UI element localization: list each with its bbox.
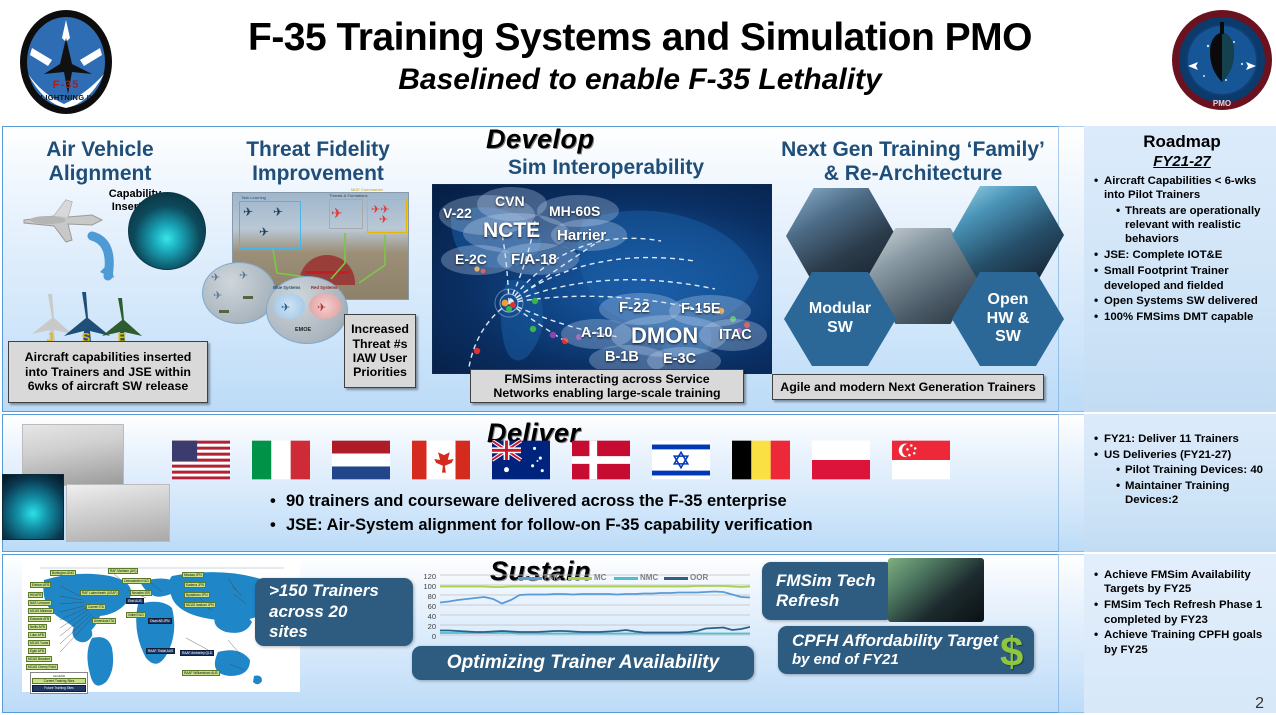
banner-fmsim-tech-refresh: FMSim Tech Refresh xyxy=(762,562,894,620)
roadmap-bullet-list: Aircraft Capabilities < 6-wks into Pilot… xyxy=(1092,174,1272,325)
trainer-availability-chart: 120 100 80 60 40 20 0 FMC MC NMC OOR xyxy=(418,574,750,642)
node-label-f15e: F-15E xyxy=(681,301,721,317)
list-item: Open Systems SW delivered xyxy=(1092,294,1272,308)
map-site-tag: Edwards AFB xyxy=(28,616,51,622)
map-site-tag: MCAS Miramar xyxy=(28,608,54,614)
list-item: • JSE: Air-System alignment for follow-o… xyxy=(268,514,948,538)
f35-lightning-ii-emblem-icon: F-35 LIGHTNING II xyxy=(12,8,120,116)
map-site-tag: Hill AFB xyxy=(28,592,43,598)
flag-denmark-icon xyxy=(572,440,630,480)
band-sustain: Sustain xyxy=(0,554,1276,713)
y-tick-40: 40 xyxy=(418,612,436,621)
chart-series-oor xyxy=(440,627,750,633)
banner-cpfh-affordability: CPFH Affordability Target by end of FY21 xyxy=(778,626,1034,674)
node-label-cvn: CVN xyxy=(495,193,525,209)
legend-swatch-oor xyxy=(664,577,688,580)
col-next-gen-training-heading: Next Gen Training ‘Family’ & Re-Architec… xyxy=(778,138,1048,185)
map-site-tag: MCAS Yuma xyxy=(28,640,50,646)
ground-threats-inset-image: ✈ ✈ ✈ ▬ ▬ xyxy=(202,262,276,324)
list-item: FY21: Deliver 11 Trainers xyxy=(1092,432,1272,446)
legend-label-mc: MC xyxy=(594,573,606,582)
node-label-dmon: DMON xyxy=(631,323,698,349)
banner-optimizing-trainer-availability: Optimizing Trainer Availability xyxy=(412,646,754,680)
slide-header: F-35 LIGHTNING II F-35 Training Systems … xyxy=(0,0,1276,125)
node-label-b1b: B-1B xyxy=(605,349,639,365)
col-air-vehicle-alignment-heading: Air Vehicle Alignment xyxy=(10,138,190,185)
map-site-tag: Kadena JPN xyxy=(184,582,206,588)
map-site-tag: Nevatim ISR xyxy=(130,590,152,596)
flag-australia-icon xyxy=(492,440,550,480)
node-label-a10: A-10 xyxy=(581,325,612,341)
node-label-e3c: E-3C xyxy=(663,351,696,367)
map-site-tag: MCAS Cherry Point xyxy=(26,664,58,670)
map-site-tag: Luke AFB xyxy=(28,632,46,638)
legend-label-oor: OOR xyxy=(690,573,708,582)
flag-netherlands-icon xyxy=(332,440,390,480)
map-site-tag: NAS Lemoore xyxy=(28,600,52,606)
node-label-e2c: E-2C xyxy=(455,251,487,267)
map-site-tag: Nellis AFB xyxy=(28,624,47,630)
chart-plot-area xyxy=(440,574,750,640)
chart-series-fmc xyxy=(440,592,750,604)
map-site-tag: Volkel NLD xyxy=(126,612,146,618)
map-site-tag: RAAF Amberley QLD xyxy=(180,650,214,656)
emoe-blue-red-systems-image: ✈ ✈ Blue Systems Red Systems EMOE xyxy=(266,276,348,344)
map-legend: LEGEND Current Training Sites Future Tra… xyxy=(30,672,88,694)
map-site-tag: Nyutabaru JPN xyxy=(184,592,210,598)
deliver-right-panel: FY21: Deliver 11 Trainers US Deliveries … xyxy=(1092,428,1272,509)
map-site-tag: Eglin AFB xyxy=(28,648,46,654)
map-site-tag: Osan AB JPN xyxy=(148,618,172,624)
map-site-tag: Misawa JPN xyxy=(182,572,204,578)
col-sim-interoperability-heading: Sim Interoperability xyxy=(466,156,746,180)
map-site-tag: Cameri ITA xyxy=(86,604,106,610)
list-item: Threats are operationally relevant with … xyxy=(1114,204,1272,247)
map-site-tag: Burlington ANG xyxy=(50,570,76,576)
flag-israel-icon xyxy=(652,440,710,480)
page-number: 2 xyxy=(1255,695,1264,713)
y-tick-60: 60 xyxy=(418,602,436,611)
node-label-harrier: Harrier xyxy=(557,227,606,244)
legend-label-fmc: FMC xyxy=(544,573,561,582)
map-site-tag: Leeuwarden NLD xyxy=(122,578,151,584)
y-tick-100: 100 xyxy=(418,582,436,591)
list-item: Small Footprint Trainer developed and fi… xyxy=(1092,264,1272,293)
list-item: 100% FMSims DMT capable xyxy=(1092,310,1272,324)
dollar-sign-icon: $ xyxy=(1000,628,1023,676)
callout-fmsims-interacting: FMSims interacting across Service Networ… xyxy=(470,369,744,403)
list-item: FMSim Tech Refresh Phase 1 completed by … xyxy=(1092,598,1272,627)
legend-swatch-mc xyxy=(568,577,592,580)
roadmap-subtitle: FY21-27 xyxy=(1092,153,1272,170)
callout-agile-modern-trainers: Agile and modern Next Generation Trainer… xyxy=(772,374,1044,400)
flag-belgium-icon xyxy=(732,440,790,480)
list-item: JSE: Complete IOT&E xyxy=(1092,248,1272,262)
pmo-seal-icon: PMO xyxy=(1168,6,1276,114)
sustain-right-bullet-list: Achieve FMSim Availability Targets by FY… xyxy=(1092,568,1272,657)
list-item: Pilot Training Devices: 40 xyxy=(1114,463,1272,477)
roadmap-title: Roadmap xyxy=(1092,132,1272,152)
map-site-tag: Amendola ITA xyxy=(92,618,116,624)
callout-aircraft-capabilities: Aircraft capabilities inserted into Trai… xyxy=(8,341,208,403)
trainer-fuselage-photo xyxy=(66,484,170,542)
y-tick-20: 20 xyxy=(418,622,436,631)
map-site-tag: RAAF Tindal AUS xyxy=(146,648,175,654)
pmo-seal-label: PMO xyxy=(1213,99,1231,108)
sustain-right-panel: Achieve FMSim Availability Targets by FY… xyxy=(1092,564,1272,659)
list-item: Achieve FMSim Availability Targets by FY… xyxy=(1092,568,1272,597)
flag-canada-icon xyxy=(412,440,470,480)
legend-swatch-fmc xyxy=(518,577,542,580)
node-label-mh60s: MH-60S xyxy=(549,203,600,219)
chart-series-mc xyxy=(440,586,750,587)
map-legend-current: Current Training Sites xyxy=(32,678,86,684)
page-title: F-35 Training Systems and Simulation PMO xyxy=(150,18,1130,59)
flag-united-states-icon xyxy=(172,440,230,480)
col-threat-fidelity-heading: Threat Fidelity Improvement xyxy=(218,138,418,185)
logo-f35-text: F-35 xyxy=(53,79,80,91)
map-site-tag: Eielson AFB xyxy=(30,582,51,588)
band-deliver: Deliver xyxy=(0,414,1276,552)
node-label-v22: V-22 xyxy=(443,205,472,221)
deliver-bullet-list: • 90 trainers and courseware delivered a… xyxy=(268,490,948,538)
list-item: US Deliveries (FY21-27) Pilot Training D… xyxy=(1092,448,1272,508)
page-subtitle: Baselined to enable F-35 Lethality xyxy=(150,63,1130,96)
list-item: Maintainer Training Devices:2 xyxy=(1114,479,1272,508)
list-item: Achieve Training CPFH goals by FY25 xyxy=(1092,628,1272,657)
map-site-tag: RAAF Williamtown AUS xyxy=(182,670,220,676)
chart-series-nmc xyxy=(440,633,750,634)
node-label-f22: F-22 xyxy=(619,299,650,316)
map-site-tag: MCAS Beaufort xyxy=(26,656,52,662)
title-block: F-35 Training Systems and Simulation PMO… xyxy=(150,18,1130,96)
flag-poland-icon xyxy=(812,440,870,480)
list-item: • 90 trainers and courseware delivered a… xyxy=(268,490,948,514)
simulator-dome-photo xyxy=(2,474,64,540)
legend-swatch-nmc xyxy=(614,577,638,580)
sim-interoperability-network-map: V-22 CVN MH-60S NCTE Harrier E-2C F/A-18… xyxy=(432,184,772,374)
map-site-tag: RAF Lakenheath (USAF) xyxy=(80,590,119,596)
y-tick-0: 0 xyxy=(418,632,436,641)
y-tick-120: 120 xyxy=(418,572,436,581)
logo-lightning-text: LIGHTNING II xyxy=(40,93,91,102)
roadmap-panel: Roadmap FY21-27 Aircraft Capabilities < … xyxy=(1092,132,1272,326)
cockpit-dome-photo xyxy=(128,192,206,270)
flag-italy-icon xyxy=(252,440,310,480)
flag-singapore-icon xyxy=(892,440,950,480)
callout-increased-threats: Increased Threat #s IAW User Priorities xyxy=(344,314,416,388)
legend-label-nmc: NMC xyxy=(640,573,658,582)
node-label-ncte: NCTE xyxy=(483,219,540,243)
y-tick-80: 80 xyxy=(418,592,436,601)
map-site-tag: RAF Marham (UK) xyxy=(108,568,138,574)
map-site-tag: Ebel AUS xyxy=(126,598,144,604)
deliver-right-bullet-list: FY21: Deliver 11 Trainers US Deliveries … xyxy=(1092,432,1272,508)
develop-script-heading: Develop xyxy=(486,126,595,155)
cockpit-view-photo xyxy=(888,558,984,622)
map-legend-future: Future Training Sites xyxy=(32,685,86,691)
band-develop: Air Vehicle Alignment Capability Inserti… xyxy=(0,126,1276,412)
list-item: Aircraft Capabilities < 6-wks into Pilot… xyxy=(1092,174,1272,247)
node-label-itac: ITAC xyxy=(719,327,752,343)
banner-150-trainers: >150 Trainers across 20 sites xyxy=(255,578,413,646)
node-label-fa18: F/A-18 xyxy=(511,251,557,268)
map-site-tag: MCAS Iwakuni JPN xyxy=(184,602,216,608)
